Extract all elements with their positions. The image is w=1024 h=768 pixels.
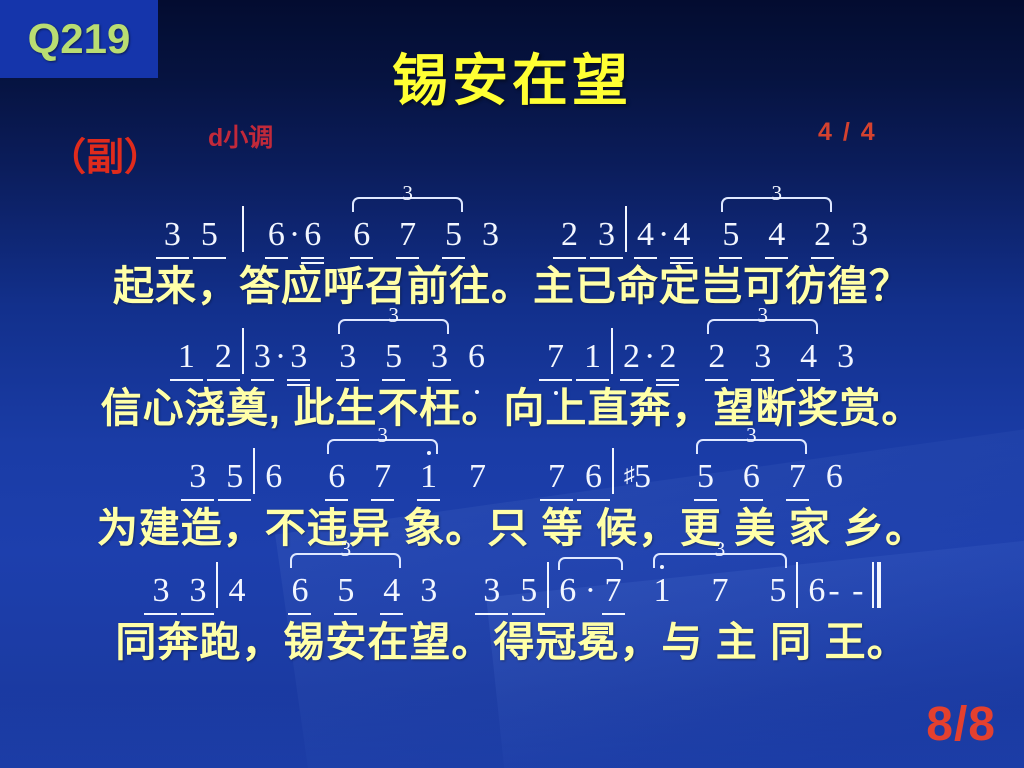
note: 7	[546, 460, 567, 494]
note: 1	[176, 340, 197, 374]
augmentation-dot: ·	[289, 218, 300, 252]
triplet-number: 3	[768, 183, 785, 204]
notation-row-1: 3 5 6 · 6 3 6 7 5 3 2 3	[0, 196, 1024, 252]
triplet-number: 3	[338, 539, 355, 560]
augmentation-dot: ·	[585, 574, 596, 608]
note: 3	[187, 574, 208, 608]
note: 5	[383, 340, 404, 374]
note: 5	[518, 574, 539, 608]
triplet-number: 3	[754, 305, 771, 326]
triplet-group: 3 6 5 4	[288, 574, 403, 608]
note: 6	[326, 460, 347, 494]
note: 3	[337, 340, 358, 374]
music-system-1: 3 5 6 · 6 3 6 7 5 3 2 3	[0, 196, 1024, 306]
key-signature-label: d小调	[208, 118, 273, 154]
triplet-group: 3 2 3 4	[705, 340, 820, 374]
triplet-number: 3	[743, 425, 760, 446]
note: 6	[351, 218, 372, 252]
triplet-group: 3 5 6 7	[694, 460, 809, 494]
note: 4	[635, 218, 656, 252]
note: 6	[263, 460, 284, 494]
lyrics-row-4: 同奔跑，锡安在望。得冠冕，与 主 同 王。	[0, 608, 1024, 662]
note: 3	[252, 340, 273, 374]
triplet-number: 3	[712, 539, 729, 560]
octave-dot-high	[660, 565, 664, 569]
note: 5	[224, 460, 245, 494]
note: 5	[767, 574, 788, 608]
note: 7	[709, 574, 730, 608]
background-sweep-3	[0, 690, 1024, 768]
music-system-3: 3 5 6 3 6 7 1 7 7 6 ♯5	[0, 438, 1024, 548]
barline	[253, 448, 255, 494]
note: 4	[798, 340, 819, 374]
note: ♯5	[622, 458, 653, 494]
triplet-group: 3 6 7 5	[350, 218, 465, 252]
note: 5	[335, 574, 356, 608]
lyrics-row-1: 起来，答应呼召前往。主已命定岂可彷徨？	[0, 252, 1024, 306]
barline	[625, 206, 627, 252]
triplet-group: 3 1 7 5	[651, 574, 790, 608]
note: 6	[302, 218, 323, 252]
music-system-2: 1 2 3 · 3 3 3 5 3 6 7 1 2	[0, 318, 1024, 428]
barline	[242, 206, 244, 252]
note: 5	[695, 460, 716, 494]
note: 3	[418, 574, 439, 608]
music-system-4: 3 3 4 3 6 5 4 3 3 5 6	[0, 552, 1024, 662]
note: 6	[266, 218, 287, 252]
note: 4	[766, 218, 787, 252]
hold-dashes: - -	[828, 574, 865, 608]
note: 7	[397, 218, 418, 252]
barline	[547, 562, 549, 608]
augmentation-dot: ·	[644, 340, 655, 374]
barline	[796, 562, 798, 608]
note: 2	[621, 340, 642, 374]
note: 2	[213, 340, 234, 374]
notation-row-3: 3 5 6 3 6 7 1 7 7 6 ♯5	[0, 438, 1024, 494]
triplet-group: 3 6 7 1	[325, 460, 440, 494]
lyrics-row-3: 为建造，不违异 象。只 等 候，更 美 家 乡。	[0, 494, 1024, 548]
augmentation-dot: ·	[275, 340, 286, 374]
notation-row-4: 3 3 4 3 6 5 4 3 3 5 6	[0, 552, 1024, 608]
final-double-barline	[872, 562, 881, 608]
note: 6	[466, 340, 487, 374]
triplet-number: 3	[374, 425, 391, 446]
note: 3	[752, 340, 773, 374]
triplet-number: 3	[399, 183, 416, 204]
augmentation-dot: ·	[658, 218, 669, 252]
slur-group: 6 · 7	[556, 574, 624, 608]
note: 2	[812, 218, 833, 252]
note: 4	[381, 574, 402, 608]
note: 7	[787, 460, 808, 494]
note: 3	[835, 340, 856, 374]
note: 5	[199, 218, 220, 252]
note: 7	[545, 340, 566, 374]
section-label: （副）	[48, 126, 162, 181]
note: 5	[443, 218, 464, 252]
note: 6	[557, 574, 578, 608]
note: 3	[480, 218, 501, 252]
note: 6	[741, 460, 762, 494]
triplet-group: 3 5 4 2	[719, 218, 834, 252]
note: 3	[429, 340, 450, 374]
barline	[611, 328, 613, 374]
note: 2	[559, 218, 580, 252]
notation-row-2: 1 2 3 · 3 3 3 5 3 6 7 1 2	[0, 318, 1024, 374]
note: 3	[481, 574, 502, 608]
note: 3	[288, 340, 309, 374]
note: 2	[657, 340, 678, 374]
page-number: 8/8	[926, 697, 996, 752]
barline	[612, 448, 614, 494]
note: 6	[824, 460, 845, 494]
note: 6	[583, 460, 604, 494]
note: 1	[582, 340, 603, 374]
barline	[242, 328, 244, 374]
note: 7	[467, 460, 488, 494]
note: 4	[671, 218, 692, 252]
note: 6	[289, 574, 310, 608]
octave-dot-high	[427, 451, 431, 455]
note: 3	[596, 218, 617, 252]
page-title: 锡安在望	[0, 36, 1024, 117]
lyrics-row-2: 信心浇奠, 此生不枉。向上直奔，望断奖赏。	[0, 374, 1024, 428]
note: 6	[806, 574, 827, 608]
slur-bracket	[558, 557, 622, 570]
time-signature-label: 4 / 4	[818, 118, 877, 147]
note: 3	[849, 218, 870, 252]
note: 5	[720, 218, 741, 252]
note: 3	[187, 460, 208, 494]
barline	[216, 562, 218, 608]
slide-canvas: Q219 锡安在望 （副） d小调 4 / 4 3 5 6 · 6 3 6 7 …	[0, 0, 1024, 768]
note: 1	[652, 574, 673, 608]
triplet-group: 3 3 5 3	[336, 340, 451, 374]
note: 2	[706, 340, 727, 374]
triplet-number: 3	[385, 305, 402, 326]
note: 7	[603, 574, 624, 608]
note: 3	[150, 574, 171, 608]
note: 3	[162, 218, 183, 252]
note: 7	[372, 460, 393, 494]
note: 1	[418, 460, 439, 494]
note: 4	[226, 574, 247, 608]
